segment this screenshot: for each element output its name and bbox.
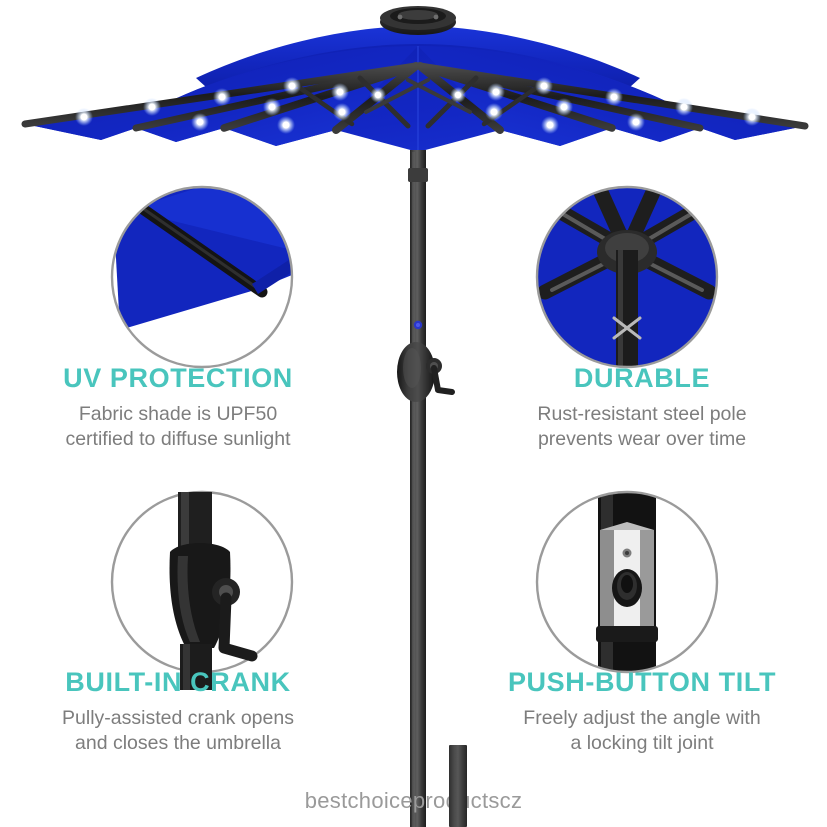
infographic-canvas: UV PROTECTION Fabric shade is UPF50 cert… bbox=[0, 0, 827, 827]
feature-body-line-2: and closes the umbrella bbox=[75, 732, 281, 754]
center-crank-housing bbox=[397, 342, 452, 402]
feature-heading-push-button-tilt: PUSH-BUTTON TILT bbox=[472, 668, 812, 698]
feature-body-push-button-tilt: Freely adjust the angle with a locking t… bbox=[472, 706, 812, 757]
feature-heading-durable: DURABLE bbox=[472, 364, 812, 394]
feature-built-in-crank: BUILT-IN CRANK Pully-assisted crank open… bbox=[8, 668, 348, 757]
pole-foreground-segment bbox=[449, 745, 467, 827]
feature-body-durable: Rust-resistant steel pole prevents wear … bbox=[472, 402, 812, 453]
feature-heading-uv-protection: UV PROTECTION bbox=[8, 364, 348, 394]
solar-hub-cap bbox=[380, 6, 456, 35]
feature-durable: DURABLE Rust-resistant steel pole preven… bbox=[472, 364, 812, 453]
feature-body-line-2: certified to diffuse sunlight bbox=[65, 428, 290, 450]
umbrella-lower-pole bbox=[408, 150, 428, 827]
feature-body-line-1: Freely adjust the angle with bbox=[523, 707, 760, 729]
feature-uv-protection: UV PROTECTION Fabric shade is UPF50 cert… bbox=[8, 364, 348, 453]
feature-body-line-2: prevents wear over time bbox=[538, 428, 746, 450]
feature-body-line-1: Rust-resistant steel pole bbox=[537, 403, 746, 425]
umbrella-pole bbox=[410, 30, 426, 827]
led-lights bbox=[75, 77, 761, 134]
feature-push-button-tilt: PUSH-BUTTON TILT Freely adjust the angle… bbox=[472, 668, 812, 757]
feature-body-line-1: Fabric shade is UPF50 bbox=[79, 403, 277, 425]
feature-heading-built-in-crank: BUILT-IN CRANK bbox=[8, 668, 348, 698]
feature-body-line-2: a locking tilt joint bbox=[570, 732, 713, 754]
brand-watermark: bestchoiceproductscz bbox=[0, 788, 827, 814]
tilt-push-button-on-pole bbox=[414, 321, 422, 329]
feature-body-line-1: Pully-assisted crank opens bbox=[62, 707, 294, 729]
feature-body-uv-protection: Fabric shade is UPF50 certified to diffu… bbox=[8, 402, 348, 453]
canopy-ribs-with-leds bbox=[25, 66, 805, 134]
feature-body-built-in-crank: Pully-assisted crank opens and closes th… bbox=[8, 706, 348, 757]
umbrella-canopy bbox=[25, 24, 805, 152]
crank-closeup-graphic bbox=[170, 492, 252, 690]
